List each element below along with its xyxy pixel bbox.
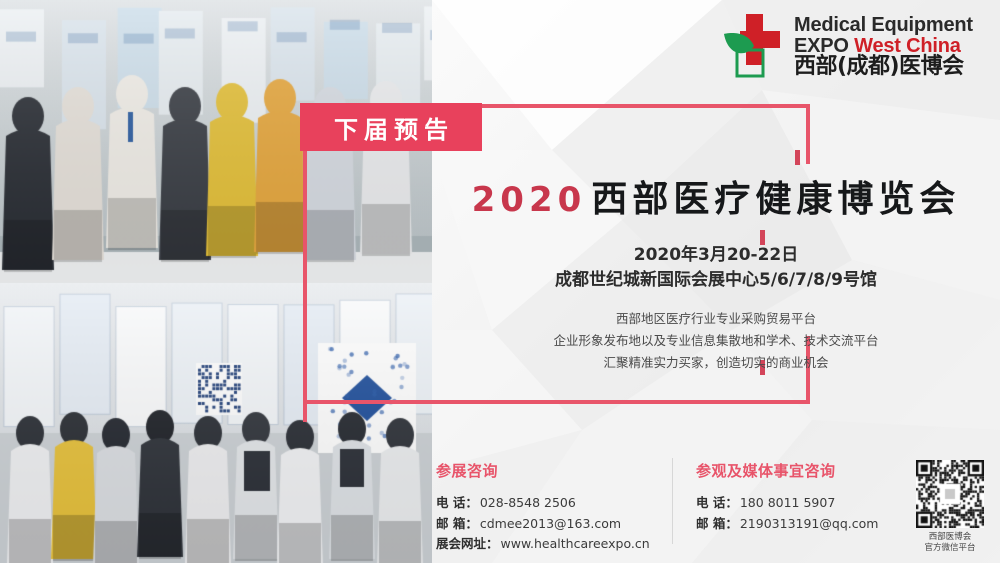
- description-line-3: 汇聚精准实力买家，创造切实的商业机会: [432, 352, 1000, 374]
- exhibition-photo-bottom: [0, 283, 432, 563]
- contact-visitor-media: 参观及媒体事宜咨询 电 话： 180 8011 5907 邮 箱： 219031…: [696, 460, 878, 534]
- contact-value: 028-8548 2506: [480, 493, 576, 514]
- contact-row: 电 话： 180 8011 5907: [696, 493, 878, 514]
- description-line-2: 企业形象发布地以及专业信息集散地和学术、技术交流平台: [432, 330, 1000, 352]
- qr-code-icon: [916, 460, 984, 528]
- expo-logo: Medical Equipment EXPO West China 西部(成都)…: [720, 8, 992, 86]
- contact-label: 展会网址：: [436, 534, 499, 555]
- qr-caption-line-1: 西部医博会: [914, 532, 986, 543]
- frame-line-right-top: [806, 104, 810, 164]
- headline-title: 西部医疗健康博览会: [591, 179, 960, 220]
- headline: 2020 西部医疗健康博览会: [432, 170, 1000, 222]
- logo-line-3: 西部(成都)医博会: [794, 56, 973, 78]
- contact-visitor-heading: 参观及媒体事宜咨询: [696, 460, 878, 481]
- contact-value: cdmee2013@163.com: [480, 514, 621, 535]
- contact-row: 展会网址： www.healthcareexpo.cn: [436, 534, 650, 555]
- description-block: 西部地区医疗行业专业采购贸易平台 企业形象发布地以及专业信息集散地和学术、技术交…: [432, 308, 1000, 374]
- next-edition-banner: 下届预告: [300, 103, 482, 151]
- headline-year: 2020: [472, 180, 587, 220]
- frame-line-left: [303, 104, 307, 422]
- contact-row: 邮 箱： 2190313191@qq.com: [696, 514, 878, 535]
- logo-line-1: Medical Equipment: [794, 15, 973, 35]
- contact-label: 邮 箱：: [696, 514, 738, 535]
- accent-tick-top: [795, 150, 800, 165]
- qr-caption-line-2: 官方微信平台: [914, 543, 986, 554]
- description-line-1: 西部地区医疗行业专业采购贸易平台: [432, 308, 1000, 330]
- wechat-qr-block: 西部医博会 官方微信平台: [914, 460, 986, 555]
- contact-value: 180 8011 5907: [740, 493, 835, 514]
- photo-column: [0, 0, 432, 563]
- event-date: 2020年3月20-22日: [432, 243, 1000, 268]
- contact-row: 邮 箱： cdmee2013@163.com: [436, 514, 650, 535]
- contact-label: 邮 箱：: [436, 514, 478, 535]
- contact-label: 电 话：: [696, 493, 738, 514]
- event-venue: 成都世纪城新国际会展中心5/6/7/8/9号馆: [432, 268, 1000, 293]
- qr-caption: 西部医博会 官方微信平台: [914, 532, 986, 555]
- contact-exhibitor-heading: 参展咨询: [436, 460, 650, 481]
- date-venue-block: 2020年3月20-22日 成都世纪城新国际会展中心5/6/7/8/9号馆: [432, 243, 1000, 292]
- contact-row: 电 话： 028-8548 2506: [436, 493, 650, 514]
- medical-cross-leaf-icon: [720, 12, 786, 82]
- poster-root: 下届预告 Medical Equipment EXPO West China 西…: [0, 0, 1000, 563]
- contact-label: 电 话：: [436, 493, 478, 514]
- contact-divider: [672, 458, 673, 544]
- contact-value: 2190313191@qq.com: [740, 514, 879, 535]
- contact-value[interactable]: www.healthcareexpo.cn: [501, 534, 650, 555]
- contact-exhibitor: 参展咨询 电 话： 028-8548 2506 邮 箱： cdmee2013@1…: [436, 460, 650, 555]
- next-edition-banner-label: 下届预告: [328, 110, 454, 145]
- frame-line-bottom: [303, 400, 810, 404]
